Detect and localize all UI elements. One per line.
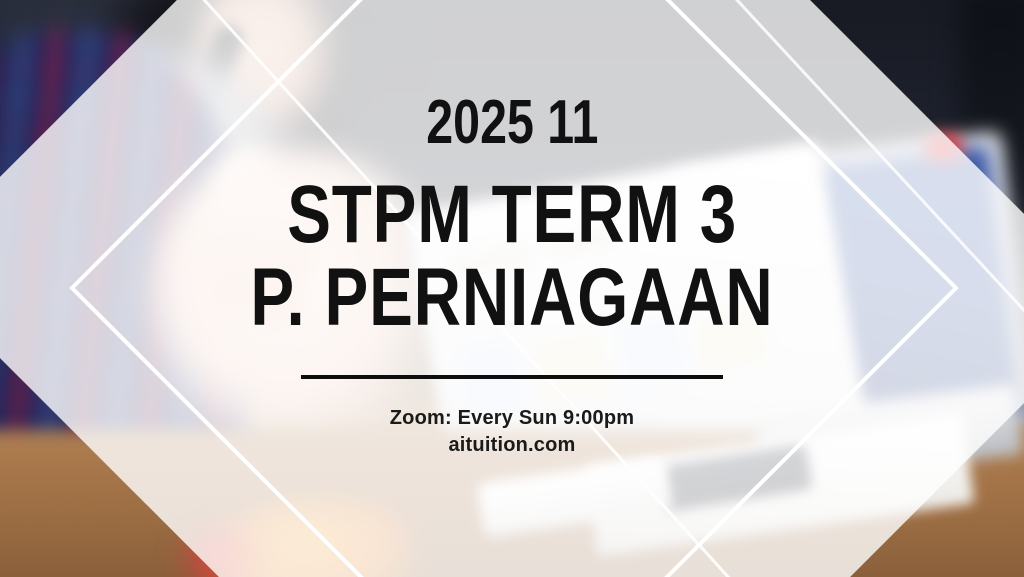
course-title-line-1: STPM TERM 3: [287, 176, 737, 255]
divider-rule: [301, 375, 723, 379]
schedule-block: Zoom: Every Sun 9:00pm aituition.com: [390, 405, 634, 459]
schedule-text: Zoom: Every Sun 9:00pm: [390, 407, 634, 429]
poster-content: 2025 11 STPM TERM 3 P. PERNIAGAAN Zoom: …: [0, 0, 1024, 577]
poster-canvas: 2025 11 STPM TERM 3 P. PERNIAGAAN Zoom: …: [0, 0, 1024, 577]
course-title-line-2: P. PERNIAGAAN: [250, 259, 773, 338]
website-text[interactable]: aituition.com: [390, 432, 634, 459]
year-label: 2025 11: [426, 92, 598, 154]
